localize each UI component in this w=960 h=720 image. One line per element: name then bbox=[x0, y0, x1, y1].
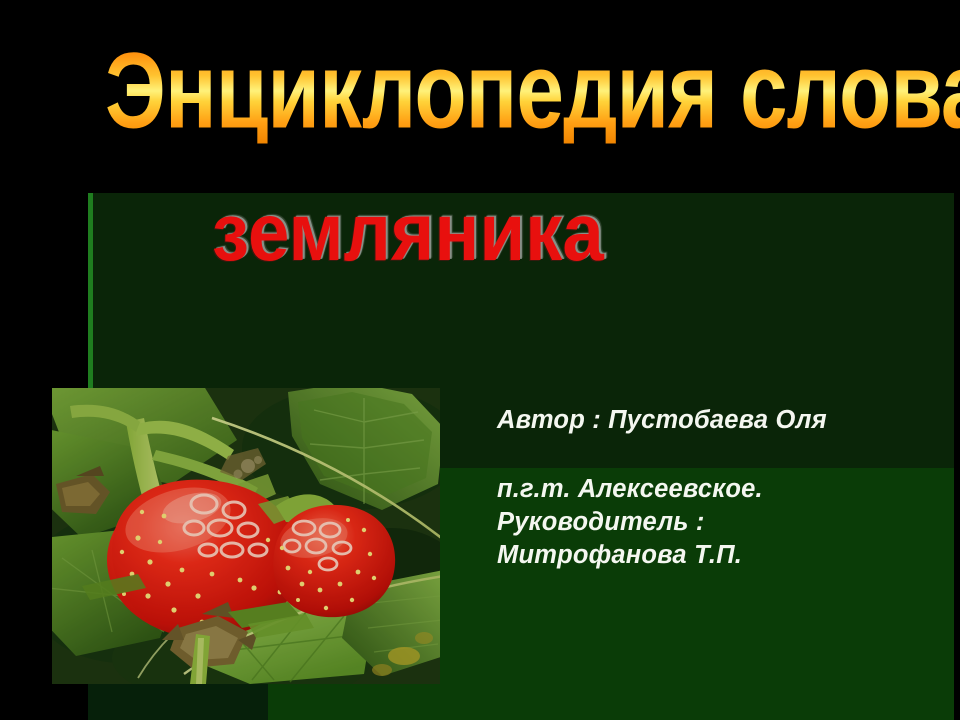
credits-block: Автор : Пустобаева Оля п.г.т. Алексеевск… bbox=[497, 404, 927, 573]
strawberry-photo-image bbox=[52, 388, 440, 684]
background-margin-right bbox=[954, 0, 960, 720]
accent-rule-vertical-green bbox=[88, 193, 93, 389]
slide-title-line-1: Энциклопедия слова - bbox=[105, 38, 960, 144]
strawberry-photo bbox=[52, 388, 440, 684]
credits-line-location: п.г.т. Алексеевское. bbox=[497, 473, 927, 506]
credits-line-supervisor-name: Митрофанова Т.П. bbox=[497, 539, 927, 572]
credits-line-blank bbox=[497, 437, 927, 473]
credits-line-author: Автор : Пустобаева Оля bbox=[497, 404, 927, 437]
credits-line-supervisor-label: Руководитель : bbox=[497, 506, 927, 539]
presentation-title-slide: Энциклопедия слова - земляника bbox=[0, 0, 960, 720]
